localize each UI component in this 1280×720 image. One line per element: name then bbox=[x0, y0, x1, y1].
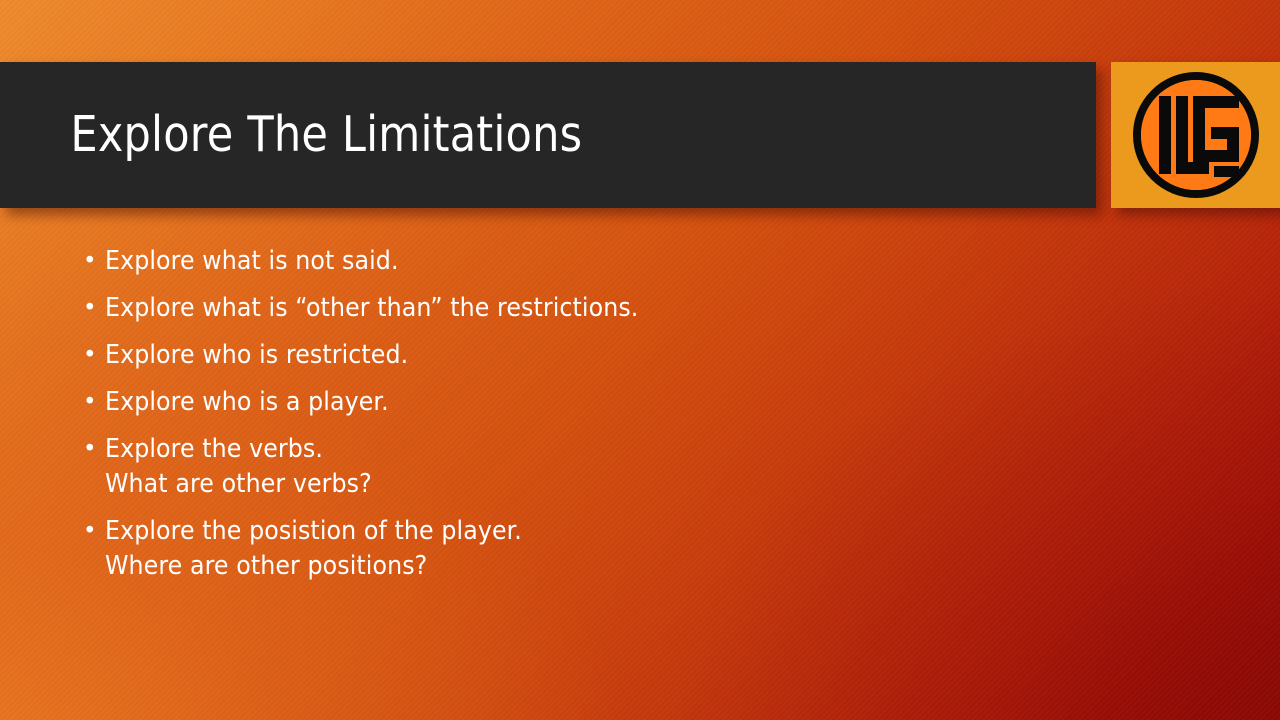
list-item-subline: Where are other positions? bbox=[105, 549, 824, 583]
page-title: Explore The Limitations bbox=[0, 109, 582, 160]
list-item-line: Explore what is “other than” the restric… bbox=[105, 291, 824, 325]
list-item-body: Explore what is “other than” the restric… bbox=[105, 291, 878, 325]
list-item-line: Explore who is a player. bbox=[105, 385, 824, 419]
slide-canvas: Explore The Limitations • bbox=[0, 0, 1280, 720]
list-item-line: Explore the verbs. bbox=[105, 432, 824, 466]
logo-box bbox=[1111, 62, 1280, 208]
list-item-body: Explore who is a player. bbox=[105, 385, 878, 419]
list-item: • Explore what is not said. bbox=[78, 244, 878, 278]
list-item: • Explore who is restricted. bbox=[78, 338, 878, 372]
bullet-icon: • bbox=[78, 385, 105, 419]
ilg-logo-icon bbox=[1133, 72, 1259, 198]
list-item-subline: What are other verbs? bbox=[105, 467, 824, 501]
title-bar: Explore The Limitations bbox=[0, 62, 1096, 208]
list-item: • Explore what is “other than” the restr… bbox=[78, 291, 878, 325]
list-item-line: Explore who is restricted. bbox=[105, 338, 824, 372]
bullet-icon: • bbox=[78, 432, 105, 466]
bullet-icon: • bbox=[78, 338, 105, 372]
list-item-body: Explore who is restricted. bbox=[105, 338, 878, 372]
list-item-body: Explore what is not said. bbox=[105, 244, 878, 278]
list-item: • Explore the posistion of the player. W… bbox=[78, 514, 878, 583]
list-item: • Explore who is a player. bbox=[78, 385, 878, 419]
bullet-icon: • bbox=[78, 291, 105, 325]
list-item: • Explore the verbs. What are other verb… bbox=[78, 432, 878, 501]
bullet-icon: • bbox=[78, 244, 105, 278]
bullet-icon: • bbox=[78, 514, 105, 548]
list-item-line: Explore what is not said. bbox=[105, 244, 824, 278]
list-item-body: Explore the posistion of the player. Whe… bbox=[105, 514, 878, 583]
list-item-body: Explore the verbs. What are other verbs? bbox=[105, 432, 878, 501]
list-item-line: Explore the posistion of the player. bbox=[105, 514, 824, 548]
bullet-list: • Explore what is not said. • Explore wh… bbox=[78, 244, 878, 596]
